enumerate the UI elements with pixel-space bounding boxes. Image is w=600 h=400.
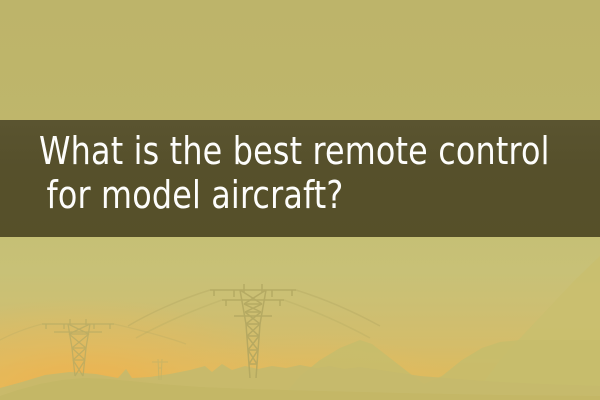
overlay-text: What is the best remote control for mode… [0, 129, 600, 217]
text-overlay-band: What is the best remote control for mode… [0, 120, 600, 237]
overlay-text-line-1: What is the best remote control [0, 129, 558, 173]
power-pylon-left [36, 314, 126, 380]
banner-image: What is the best remote control for mode… [0, 0, 600, 400]
power-pole-distant [148, 356, 172, 382]
overlay-text-line-2: for model aircraft? [0, 173, 558, 217]
power-pylon-main [198, 278, 308, 384]
